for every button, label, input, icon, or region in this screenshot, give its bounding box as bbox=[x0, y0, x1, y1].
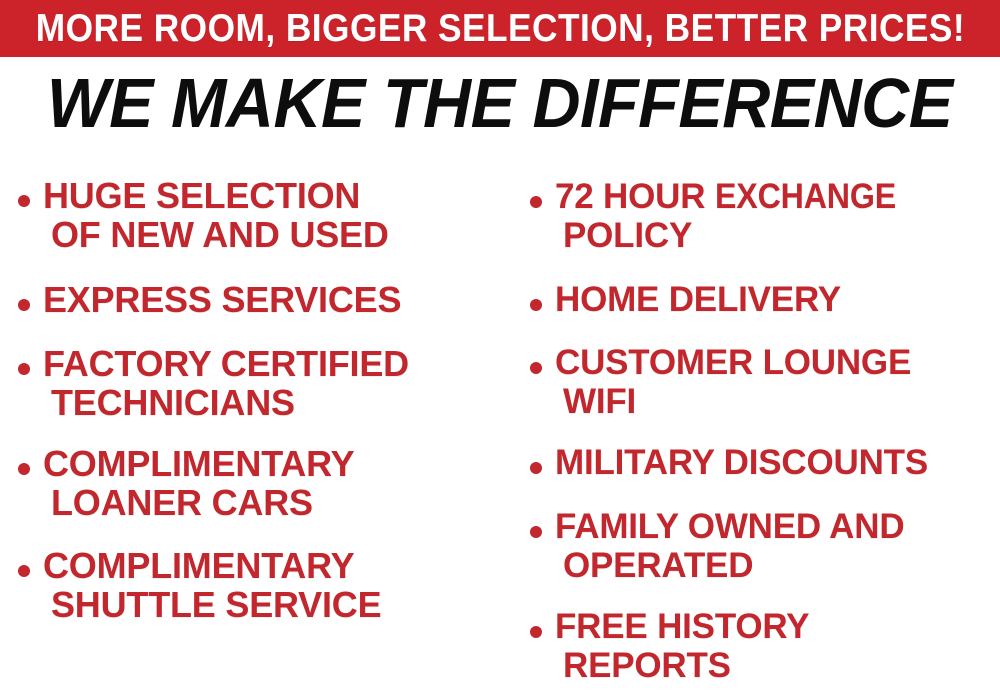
list-item-line: CUSTOMER LOUNGE bbox=[555, 343, 911, 382]
benefits-columns: HUGE SELECTION OF NEW AND USED EXPRESS S… bbox=[0, 156, 1000, 694]
list-item-line: FACTORY CERTIFIED bbox=[43, 344, 409, 383]
list-item-line: WIFI bbox=[555, 382, 911, 421]
banner-headline-text: MORE ROOM, BIGGER SELECTION, BETTER PRIC… bbox=[35, 9, 964, 48]
list-item-line: EXPRESS SERVICES bbox=[43, 280, 401, 319]
list-item-label: MILITARY DISCOUNTS bbox=[555, 443, 928, 482]
bullet-dot-icon bbox=[530, 526, 542, 538]
list-item-label: COMPLIMENTARY LOANER CARS bbox=[43, 444, 354, 522]
list-item-line: COMPLIMENTARY bbox=[43, 444, 354, 483]
list-item-label: 72 HOUR EXCHANGE POLICY bbox=[555, 177, 912, 255]
list-item-label: FREE HISTORY REPORTS bbox=[555, 607, 809, 685]
list-item: FACTORY CERTIFIED TECHNICIANS bbox=[18, 344, 506, 422]
list-item: EXPRESS SERVICES bbox=[18, 280, 506, 319]
list-item-line: REPORTS bbox=[555, 646, 809, 685]
headline-area: WE MAKE THE DIFFERENCE bbox=[0, 62, 1000, 144]
list-item-line: LOANER CARS bbox=[43, 483, 354, 522]
benefits-column-left: HUGE SELECTION OF NEW AND USED EXPRESS S… bbox=[0, 156, 506, 624]
bullet-dot-icon bbox=[18, 363, 30, 375]
list-item-label: CUSTOMER LOUNGE WIFI bbox=[555, 343, 911, 421]
list-item-line: FAMILY OWNED AND bbox=[555, 507, 904, 546]
list-item: HUGE SELECTION OF NEW AND USED bbox=[18, 176, 506, 254]
list-item-line: 72 HOUR EXCHANGE bbox=[555, 177, 912, 216]
bullet-dot-icon bbox=[530, 626, 542, 638]
promotional-poster: MORE ROOM, BIGGER SELECTION, BETTER PRIC… bbox=[0, 0, 1000, 694]
list-item-label: HOME DELIVERY bbox=[555, 280, 841, 319]
list-item-line-part: EXCHANGE bbox=[715, 177, 896, 216]
bullet-dot-icon bbox=[18, 463, 30, 475]
bullet-dot-icon bbox=[530, 462, 542, 474]
bullet-dot-icon bbox=[530, 299, 542, 311]
list-item-label: HUGE SELECTION OF NEW AND USED bbox=[43, 176, 389, 254]
list-item-line: OF NEW AND USED bbox=[43, 215, 389, 254]
list-item-label: FACTORY CERTIFIED TECHNICIANS bbox=[43, 344, 409, 422]
list-item: CUSTOMER LOUNGE WIFI bbox=[530, 343, 1000, 421]
top-banner: MORE ROOM, BIGGER SELECTION, BETTER PRIC… bbox=[0, 0, 1000, 57]
list-item-line: POLICY bbox=[555, 216, 912, 255]
list-item-line: MILITARY DISCOUNTS bbox=[555, 443, 928, 482]
list-item: COMPLIMENTARY LOANER CARS bbox=[18, 444, 506, 522]
list-item-line: COMPLIMENTARY bbox=[43, 546, 381, 585]
list-item-line: OPERATED bbox=[555, 546, 904, 585]
list-item: 72 HOUR EXCHANGE POLICY bbox=[530, 177, 1000, 255]
list-item-label: COMPLIMENTARY SHUTTLE SERVICE bbox=[43, 546, 381, 624]
benefits-column-right: 72 HOUR EXCHANGE POLICY HOME DELIVERY CU… bbox=[506, 156, 1000, 685]
bullet-dot-icon bbox=[530, 362, 542, 374]
list-item-line: TECHNICIANS bbox=[43, 383, 409, 422]
list-item: HOME DELIVERY bbox=[530, 280, 1000, 319]
list-item-line: SHUTTLE SERVICE bbox=[43, 585, 381, 624]
list-item-label: EXPRESS SERVICES bbox=[43, 280, 401, 319]
list-item: FAMILY OWNED AND OPERATED bbox=[530, 507, 1000, 585]
bullet-dot-icon bbox=[530, 196, 542, 208]
list-item-line: FREE HISTORY bbox=[555, 607, 809, 646]
page-title: WE MAKE THE DIFFERENCE bbox=[47, 68, 953, 138]
list-item: MILITARY DISCOUNTS bbox=[530, 443, 1000, 482]
bullet-dot-icon bbox=[18, 299, 30, 311]
list-item: COMPLIMENTARY SHUTTLE SERVICE bbox=[18, 546, 506, 624]
list-item: FREE HISTORY REPORTS bbox=[530, 607, 1000, 685]
list-item-line: HUGE SELECTION bbox=[43, 176, 389, 215]
list-item-line: HOME DELIVERY bbox=[555, 280, 841, 319]
list-item-label: FAMILY OWNED AND OPERATED bbox=[555, 507, 904, 585]
bullet-dot-icon bbox=[18, 565, 30, 577]
bullet-dot-icon bbox=[18, 195, 30, 207]
list-item-line-part: 72 HOUR bbox=[555, 177, 715, 216]
